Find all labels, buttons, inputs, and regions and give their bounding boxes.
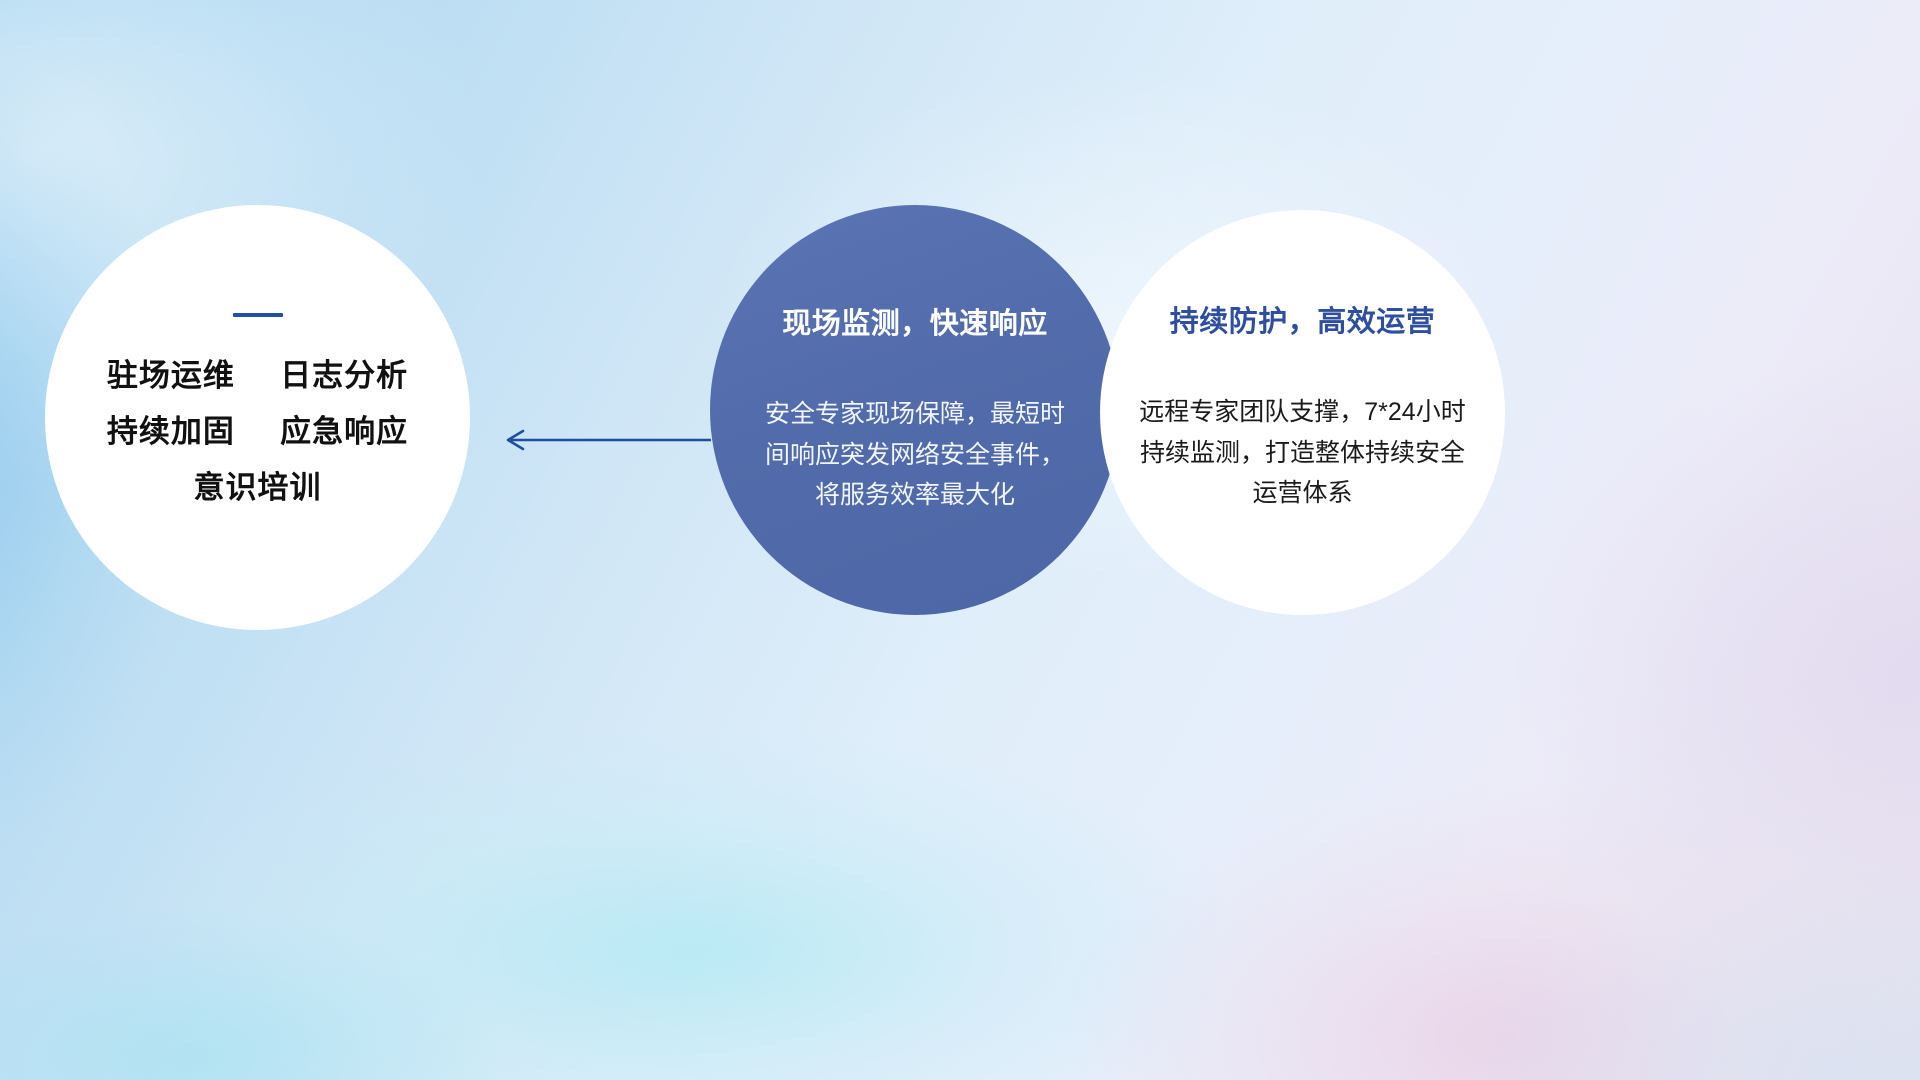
divider-rule: [233, 313, 283, 317]
service-capability-circle: 驻场运维 日志分析 持续加固 应急响应 意识培训: [45, 205, 470, 630]
capability-tag: 驻场运维: [107, 358, 235, 393]
card-title: 现场监测，快速响应: [782, 300, 1048, 342]
capability-tag: 持续加固: [107, 414, 235, 449]
card-body: 安全专家现场保障，最短时间响应突发网络安全事件，将服务效率最大化: [765, 394, 1065, 516]
card-title: 持续防护，高效运营: [1170, 298, 1436, 340]
onsite-monitoring-card: 现场监测，快速响应 安全专家现场保障，最短时间响应突发网络安全事件，将服务效率最…: [710, 205, 1120, 615]
card-body: 远程专家团队支撑，7*24小时持续监测，打造整体持续安全运营体系: [1135, 392, 1470, 514]
continuous-protection-card: 持续防护，高效运营 远程专家团队支撑，7*24小时持续监测，打造整体持续安全运营…: [1100, 210, 1505, 615]
capability-row: 驻场运维 日志分析: [107, 359, 408, 393]
left-pointing-arrow: [497, 425, 712, 455]
capability-row: 持续加固 应急响应: [107, 415, 408, 449]
slide-canvas: 驻场运维 日志分析 持续加固 应急响应 意识培训 现场监测，快速响应 安全专家现…: [0, 0, 1920, 1080]
capability-tag: 意识培训: [194, 470, 322, 505]
capability-tag: 日志分析: [280, 358, 408, 393]
capability-tag: 应急响应: [280, 414, 408, 449]
capability-row: 意识培训: [194, 471, 322, 505]
